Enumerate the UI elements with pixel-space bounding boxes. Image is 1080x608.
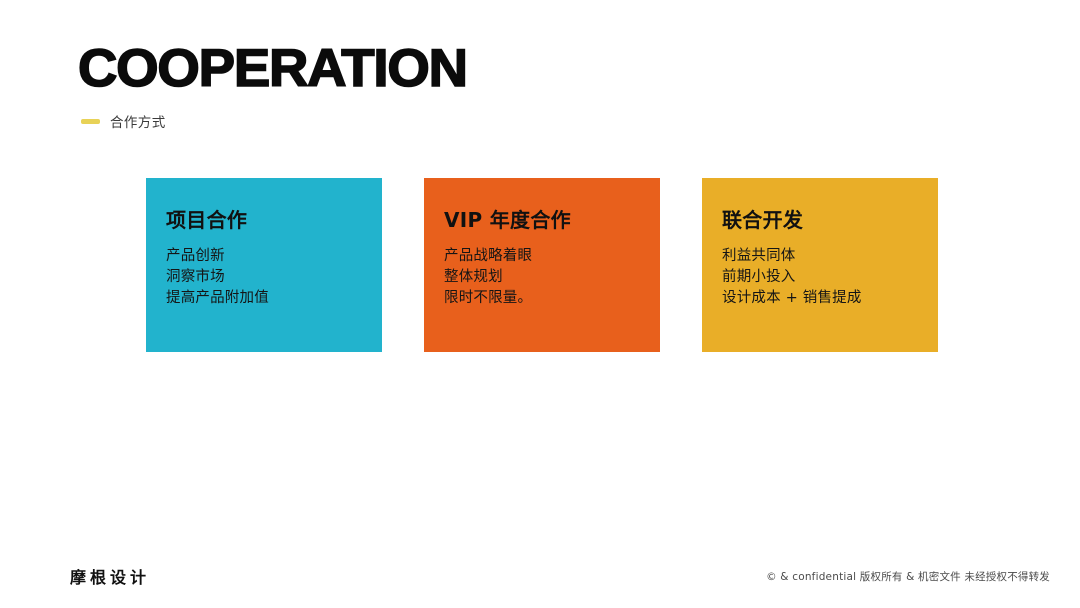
card-line-list: 产品战略着眼 整体规划 限时不限量。 [444, 246, 660, 309]
card-project-cooperation[interactable]: 项目合作 产品创新 洞察市场 提高产品附加值 [146, 178, 382, 352]
card-joint-development[interactable]: 联合开发 利益共同体 前期小投入 设计成本 + 销售提成 [702, 178, 938, 352]
card-line: 设计成本 + 销售提成 [722, 288, 938, 309]
card-heading: 项目合作 [166, 208, 382, 232]
card-line: 产品战略着眼 [444, 246, 660, 267]
slide-header: COOPERATION 合作方式 [78, 42, 898, 131]
page-subtitle: 合作方式 [110, 111, 166, 131]
confidential-note: © & confidential 版权所有 & 机密文件 未经授权不得转发 [766, 569, 1050, 584]
card-line-list: 产品创新 洞察市场 提高产品附加值 [166, 246, 382, 309]
brand-logo: 摩根设计 [70, 564, 150, 588]
cooperation-card-list: 项目合作 产品创新 洞察市场 提高产品附加值 VIP 年度合作 产品战略着眼 整… [146, 178, 938, 352]
subtitle-row: 合作方式 [81, 111, 898, 131]
card-line: 洞察市场 [166, 267, 382, 288]
page-title: COOPERATION [78, 42, 923, 96]
card-line: 限时不限量。 [444, 288, 660, 309]
card-line: 产品创新 [166, 246, 382, 267]
card-heading: 联合开发 [722, 208, 938, 232]
dash-icon [81, 119, 100, 124]
card-line: 前期小投入 [722, 267, 938, 288]
card-heading: VIP 年度合作 [444, 208, 660, 232]
card-vip-annual-cooperation[interactable]: VIP 年度合作 产品战略着眼 整体规划 限时不限量。 [424, 178, 660, 352]
card-line-list: 利益共同体 前期小投入 设计成本 + 销售提成 [722, 246, 938, 309]
card-line: 利益共同体 [722, 246, 938, 267]
card-line: 提高产品附加值 [166, 288, 382, 309]
slide-canvas: COOPERATION 合作方式 项目合作 产品创新 洞察市场 提高产品附加值 … [0, 0, 1080, 608]
card-line: 整体规划 [444, 267, 660, 288]
